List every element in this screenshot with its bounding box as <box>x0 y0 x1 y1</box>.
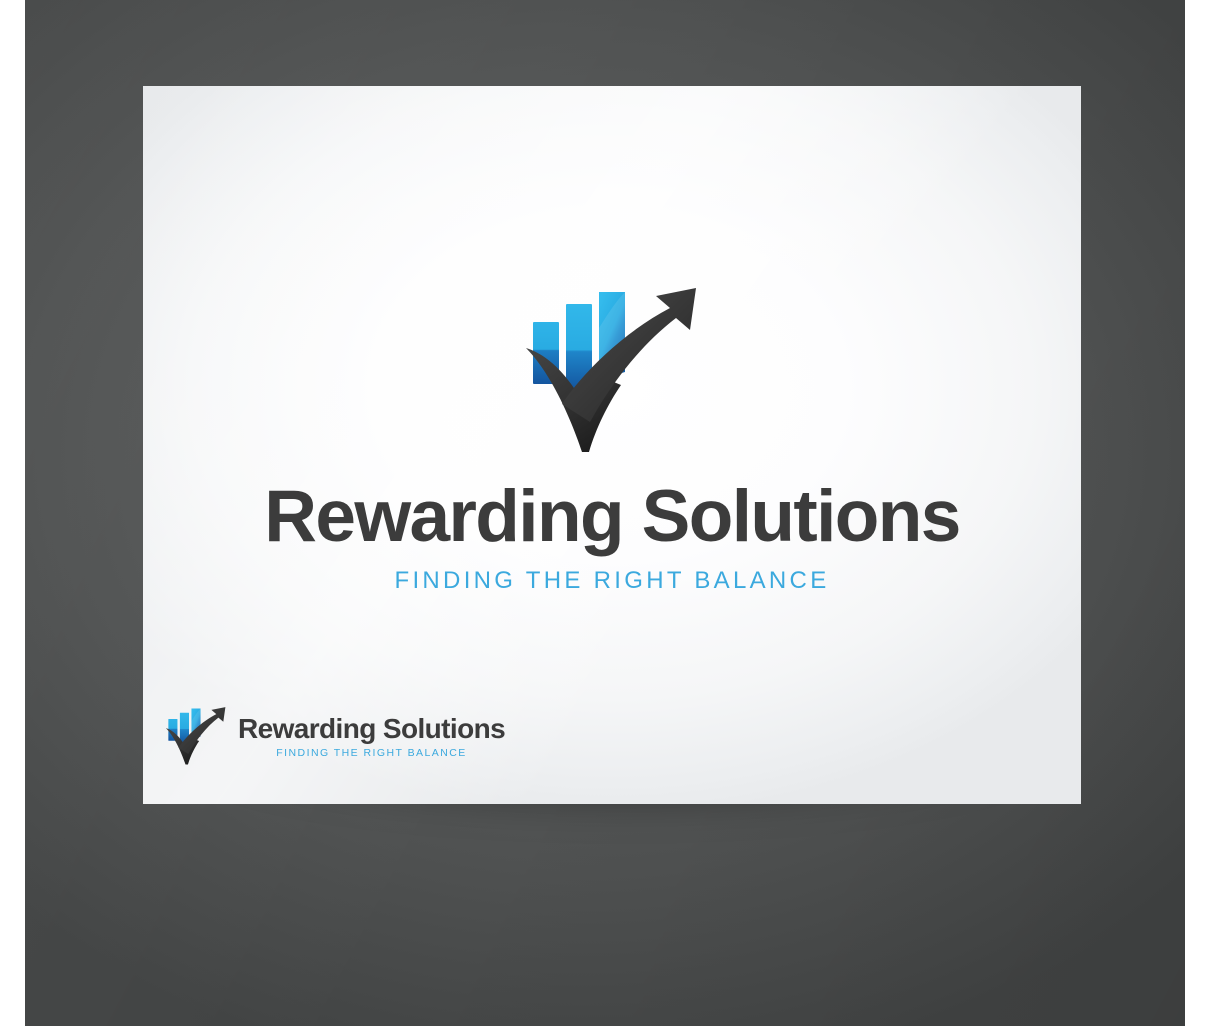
primary-logo-lockup: Rewarding Solutions FINDING THE RIGHT BA… <box>143 282 1081 595</box>
logo-presentation-panel: Rewarding Solutions FINDING THE RIGHT BA… <box>143 86 1081 804</box>
secondary-logo-text: Rewarding Solutions FINDING THE RIGHT BA… <box>238 714 505 758</box>
secondary-logo-lockup: Rewarding Solutions FINDING THE RIGHT BA… <box>165 705 505 768</box>
secondary-wordmark: Rewarding Solutions <box>238 714 505 743</box>
bar-chart-checkmark-arrow-logo-mark-small <box>165 705 227 768</box>
secondary-tagline: FINDING THE RIGHT BALANCE <box>238 747 505 759</box>
bar-chart-checkmark-arrow-logo-mark <box>524 282 700 462</box>
page-title: Rewarding Solutions <box>143 480 1081 553</box>
presentation-canvas: Rewarding Solutions FINDING THE RIGHT BA… <box>0 0 1226 1026</box>
brand-tagline: FINDING THE RIGHT BALANCE <box>143 567 1081 595</box>
